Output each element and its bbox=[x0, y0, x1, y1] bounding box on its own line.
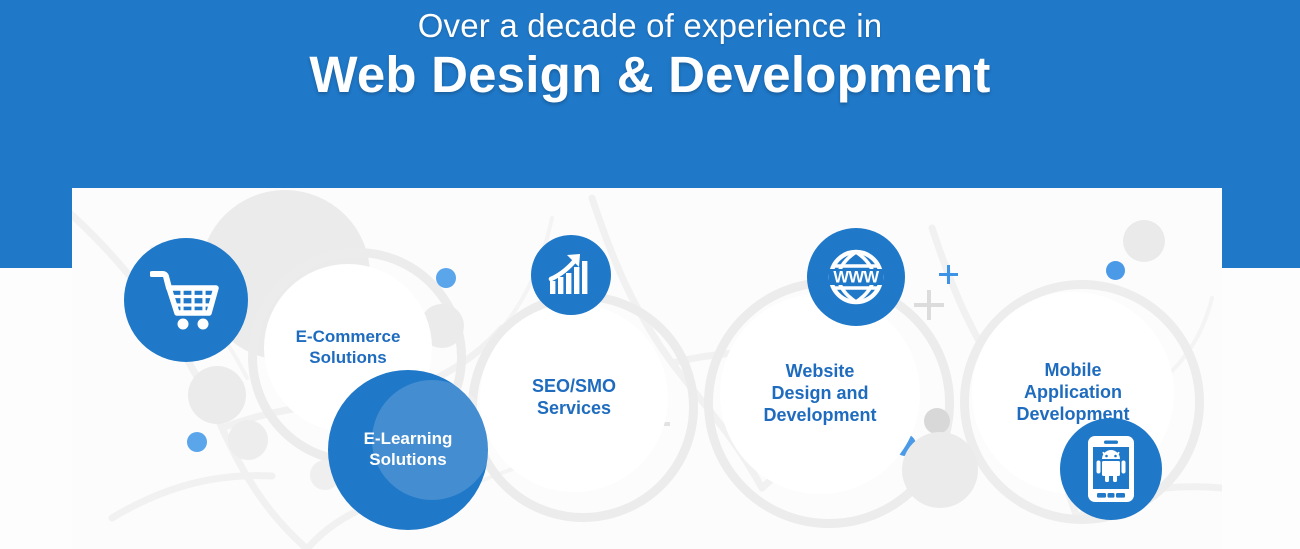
headline: Over a decade of experience in Web Desig… bbox=[0, 8, 1300, 102]
headline-line-2: Web Design & Development bbox=[0, 47, 1300, 102]
service-node-seo-smo[interactable]: SEO/SMO Services bbox=[480, 304, 668, 492]
service-label-e-learning: E-Learning Solutions bbox=[364, 429, 453, 470]
decor-gray-circle-large-2 bbox=[902, 432, 978, 508]
service-icon-website-design[interactable]: WWW bbox=[807, 228, 905, 326]
promo-banner: Over a decade of experience in Web Desig… bbox=[0, 0, 1300, 549]
svg-text:WWW: WWW bbox=[833, 269, 879, 287]
mobile-android-icon bbox=[1085, 434, 1137, 504]
globe-www-icon: WWW bbox=[824, 245, 888, 309]
service-icon-seo-smo[interactable] bbox=[531, 235, 611, 315]
headline-line-1: Over a decade of experience in bbox=[0, 8, 1300, 44]
decor-gray-circle-small-1 bbox=[188, 366, 246, 424]
decor-gray-circle-large-3 bbox=[1123, 220, 1165, 262]
bar-chart-growth-icon bbox=[547, 252, 595, 298]
service-icon-mobile-app[interactable] bbox=[1060, 418, 1162, 520]
decor-plus-blue-2 bbox=[939, 265, 958, 284]
service-label-seo-smo: SEO/SMO Services bbox=[532, 376, 616, 420]
service-label-website-design: Website Design and Development bbox=[763, 361, 876, 427]
decor-gray-circle-small-5 bbox=[924, 408, 950, 434]
service-label-mobile-app: Mobile Application Development bbox=[1016, 360, 1129, 426]
service-node-website-design[interactable]: Website Design and Development bbox=[720, 294, 920, 494]
decor-blue-dot-4 bbox=[1106, 261, 1125, 280]
decor-gray-circle-small-2 bbox=[228, 420, 268, 460]
service-node-e-learning[interactable]: E-Learning Solutions bbox=[328, 370, 488, 530]
service-icon-e-commerce[interactable] bbox=[124, 238, 248, 362]
decor-blue-dot-1 bbox=[436, 268, 456, 288]
shopping-cart-icon bbox=[150, 269, 222, 331]
content-panel: E-Commerce Solutions bbox=[72, 188, 1222, 549]
service-label-e-commerce: E-Commerce Solutions bbox=[296, 327, 401, 368]
decor-blue-dot-2 bbox=[187, 432, 207, 452]
decor-plus-gray-2 bbox=[914, 290, 944, 320]
